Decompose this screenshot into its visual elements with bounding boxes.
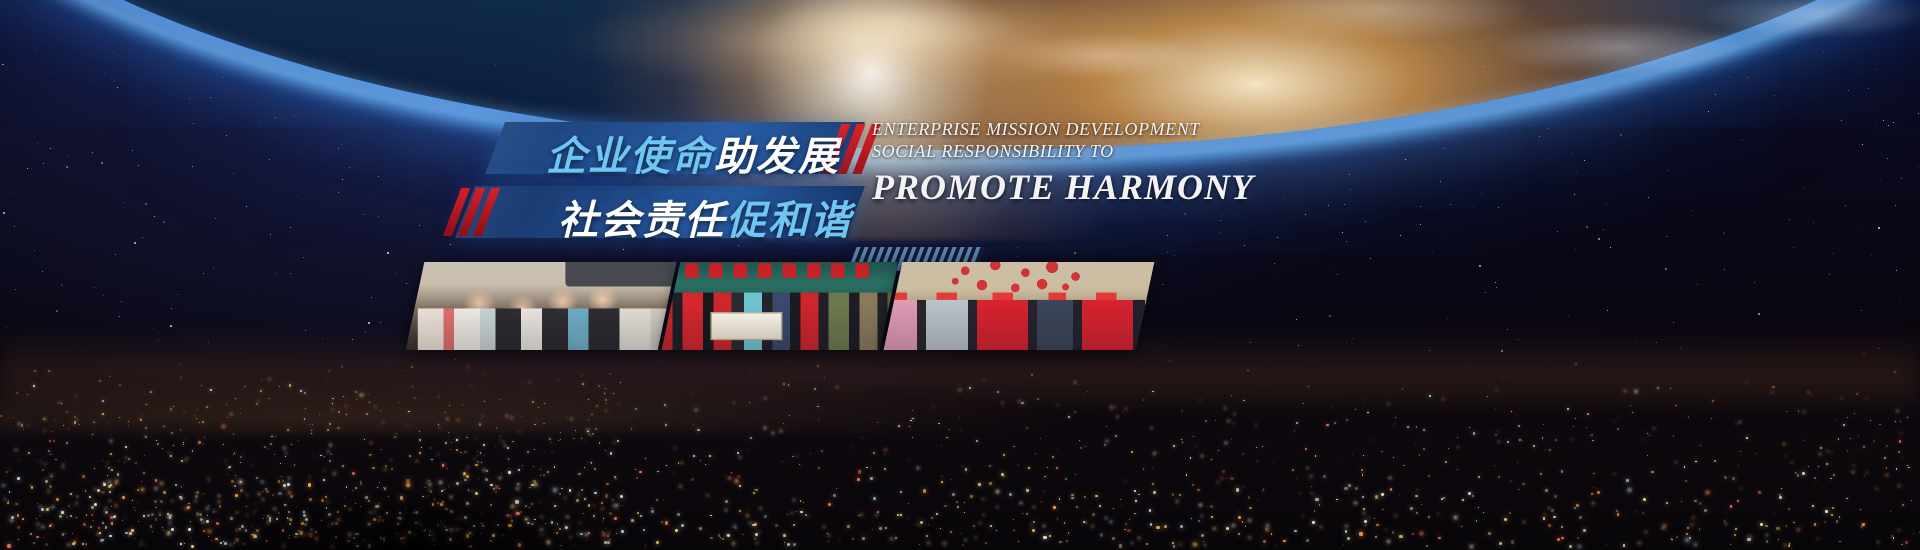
headline-line-2: 社会责任促和谐 [558, 188, 852, 246]
english-line-2: SOCIAL RESPONSIBILITY TO [872, 140, 1332, 162]
headline-line-2-highlight: 促和谐 [726, 198, 852, 244]
headline-line-2-plain: 社会责任 [558, 198, 726, 244]
english-line-3: PROMOTE HARMONY [872, 164, 1332, 210]
photo-thumbnail-3 [884, 262, 1155, 350]
headline-line-1: 企业使命助发展 [546, 124, 840, 182]
photo-strip [415, 262, 1155, 354]
photo-thumbnail-2 [662, 262, 899, 350]
photo-thumbnail-1 [406, 262, 677, 350]
hero-banner: 企业使命助发展 社会责任促和谐 ENTERPRISE MISSION DEVEL… [0, 0, 1920, 550]
english-tagline: ENTERPRISE MISSION DEVELOPMENT SOCIAL RE… [872, 118, 1332, 210]
english-line-1: ENTERPRISE MISSION DEVELOPMENT [872, 118, 1332, 140]
headline-line-1-plain: 助发展 [714, 134, 840, 180]
headline-line-1-highlight: 企业使命 [546, 134, 714, 180]
